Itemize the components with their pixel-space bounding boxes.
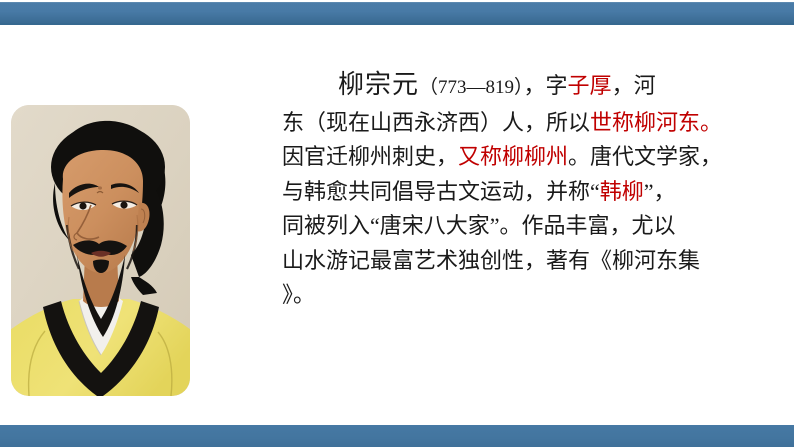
bio-line3-tail: 。唐代文学家，: [568, 144, 722, 169]
bio-line1-tail: ，河: [612, 73, 656, 98]
bio-line2-a: 东（现在山西永济西）人，所以: [282, 110, 590, 135]
biography-text-block: 柳宗元（773—819），字子厚，河 东（现在山西永济西）人，所以世称柳河东。 …: [282, 68, 706, 313]
bio-line4-tail: ”，: [644, 179, 676, 204]
bio-line-3: 因官迁柳州刺史，又称柳柳州。唐代文学家，: [282, 140, 706, 175]
bio-line-2: 东（现在山西永济西）人，所以世称柳河东。: [282, 106, 706, 141]
bio-line4-a: 与韩愈共同倡导古文运动，并称“: [282, 179, 600, 204]
bio-line3-highlight: 又称柳柳州: [458, 144, 568, 169]
bio-line3-a: 因官迁柳州刺史，: [282, 144, 458, 169]
bio-line4-highlight: 韩柳: [600, 179, 644, 204]
bio-line1-highlight: 子厚: [568, 73, 612, 98]
bio-line-5: 同被列入“唐宋八大家”。作品丰富，尤以: [282, 209, 706, 244]
bottom-accent-band: [0, 425, 794, 447]
bio-line-7: 》。: [282, 278, 706, 313]
bio-line2-highlight: 世称柳河东: [590, 110, 700, 135]
bio-line1-rest: ，字: [524, 73, 568, 98]
person-dates: （773—819）: [419, 77, 524, 98]
top-accent-band-edge: [0, 23, 794, 25]
portrait-image: [11, 105, 190, 396]
top-accent-band: [0, 2, 794, 23]
bio-line-6: 山水游记最富艺术独创性，著有《柳河东集: [282, 244, 706, 279]
bio-line-1: 柳宗元（773—819），字子厚，河: [282, 68, 706, 106]
bio-line-4: 与韩愈共同倡导古文运动，并称“韩柳”，: [282, 175, 706, 210]
person-name: 柳宗元: [338, 70, 419, 99]
portrait-illustration: [11, 105, 190, 396]
bio-line2-tail: 。: [700, 110, 722, 135]
